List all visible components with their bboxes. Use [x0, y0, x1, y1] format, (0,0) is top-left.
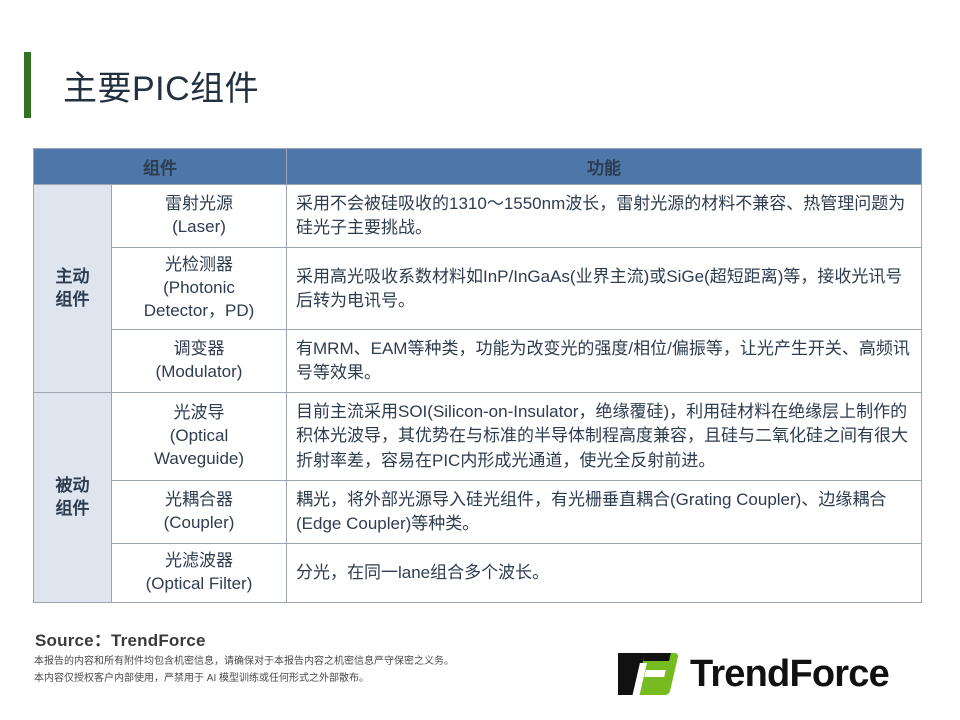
- component-name-optical-filter: 光滤波器 (Optical Filter): [112, 543, 287, 602]
- component-function-laser: 采用不会被硅吸收的1310～1550nm波长，雷射光源的材料不兼容、热管理问题为…: [287, 185, 922, 248]
- group-label-active-line1: 主动: [35, 266, 110, 289]
- trendforce-wordmark: TrendForce: [690, 655, 889, 693]
- component-function-optical-filter: 分光，在同一lane组合多个波长。: [287, 543, 922, 602]
- component-function-optical-waveguide: 目前主流采用SOI(Silicon-on-Insulator，绝缘覆硅)，利用硅…: [287, 393, 922, 480]
- component-name-coupler: 光耦合器 (Coupler): [112, 480, 287, 543]
- source-label: Source：TrendForce: [35, 626, 206, 651]
- group-label-passive: 被动 组件: [34, 393, 112, 603]
- component-name-coupler-line1: 光耦合器: [116, 489, 282, 512]
- component-name-laser-line2: (Laser): [116, 216, 282, 239]
- table-row: 主动 组件 雷射光源 (Laser) 采用不会被硅吸收的1310～1550nm波…: [34, 185, 922, 248]
- component-name-laser-line1: 雷射光源: [116, 193, 282, 216]
- disclaimer-line-2: 本内容仅授权客户内部使用，严禁用于 AI 模型训练或任何形式之外部散布。: [34, 671, 454, 688]
- title-text: 主要PIC组件: [63, 61, 259, 110]
- table-header-row: 组件 功能: [34, 149, 922, 185]
- component-function-coupler: 耦光，将外部光源导入硅光组件，有光栅垂直耦合(Grating Coupler)、…: [287, 480, 922, 543]
- component-name-modulator-line1: 调变器: [116, 338, 282, 361]
- disclaimer-text: 本报告的内容和所有附件均包含机密信息，请确保对于本报告内容之机密信息严守保密之义…: [34, 654, 454, 687]
- component-name-filter-line2: (Optical Filter): [116, 573, 282, 596]
- logo-middle-notch: [644, 670, 666, 677]
- component-name-waveguide-line3: Waveguide): [116, 448, 282, 471]
- component-name-modulator: 调变器 (Modulator): [112, 330, 287, 393]
- table-row: 被动 组件 光波导 (Optical Waveguide) 目前主流采用SOI(…: [34, 393, 922, 480]
- page-title: 主要PIC组件: [24, 52, 259, 118]
- logo-top-notch: [643, 653, 671, 661]
- table-row: 调变器 (Modulator) 有MRM、EAM等种类，功能为改变光的强度/相位…: [34, 330, 922, 393]
- column-header-function: 功能: [287, 149, 922, 185]
- component-name-coupler-line2: (Coupler): [116, 512, 282, 535]
- component-name-filter-line1: 光滤波器: [116, 550, 282, 573]
- table-body: 主动 组件 雷射光源 (Laser) 采用不会被硅吸收的1310～1550nm波…: [34, 185, 922, 603]
- group-label-active-line2: 组件: [35, 289, 110, 312]
- table-head: 组件 功能: [34, 149, 922, 185]
- component-name-photonic-detector: 光检测器 (Photonic Detector，PD): [112, 248, 287, 330]
- component-name-laser: 雷射光源 (Laser): [112, 185, 287, 248]
- component-name-waveguide-line1: 光波导: [116, 402, 282, 425]
- component-name-pd-line2: (Photonic: [116, 277, 282, 300]
- pic-components-table-container: 组件 功能 主动 组件 雷射光源 (Laser) 采用不会被硅吸收的1310～1…: [33, 148, 922, 603]
- component-name-pd-line3: Detector，PD): [116, 300, 282, 323]
- title-accent-bar: [24, 52, 31, 118]
- component-name-optical-waveguide: 光波导 (Optical Waveguide): [112, 393, 287, 480]
- trendforce-logo-icon: [618, 651, 680, 697]
- component-function-photonic-detector: 采用高光吸收系数材料如InP/InGaAs(业界主流)或SiGe(超短距离)等，…: [287, 248, 922, 330]
- disclaimer-line-1: 本报告的内容和所有附件均包含机密信息，请确保对于本报告内容之机密信息严守保密之义…: [34, 654, 454, 671]
- component-function-modulator: 有MRM、EAM等种类，功能为改变光的强度/相位/偏振等，让光产生开关、高频讯号…: [287, 330, 922, 393]
- component-name-waveguide-line2: (Optical: [116, 425, 282, 448]
- group-label-passive-line1: 被动: [35, 475, 110, 498]
- column-header-component: 组件: [34, 149, 287, 185]
- group-label-active: 主动 组件: [34, 185, 112, 393]
- component-name-pd-line1: 光检测器: [116, 254, 282, 277]
- table-row: 光耦合器 (Coupler) 耦光，将外部光源导入硅光组件，有光栅垂直耦合(Gr…: [34, 480, 922, 543]
- table-row: 光检测器 (Photonic Detector，PD) 采用高光吸收系数材料如I…: [34, 248, 922, 330]
- trendforce-logo: TrendForce: [618, 650, 889, 698]
- component-name-modulator-line2: (Modulator): [116, 361, 282, 384]
- group-label-passive-line2: 组件: [35, 498, 110, 521]
- pic-components-table: 组件 功能 主动 组件 雷射光源 (Laser) 采用不会被硅吸收的1310～1…: [33, 148, 922, 603]
- table-row: 光滤波器 (Optical Filter) 分光，在同一lane组合多个波长。: [34, 543, 922, 602]
